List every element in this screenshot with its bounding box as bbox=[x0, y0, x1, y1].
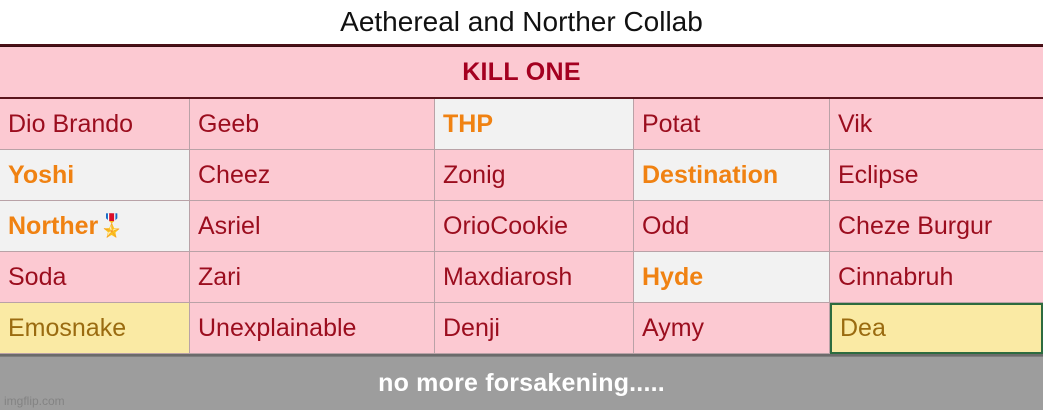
grid-cell-label: Dea bbox=[840, 314, 886, 343]
grid-cell[interactable]: Denji bbox=[435, 303, 634, 354]
banner-label: KILL ONE bbox=[462, 58, 581, 87]
grid-cell-label: Soda bbox=[8, 263, 66, 292]
grid-cell-label: Cinnabruh bbox=[838, 263, 953, 292]
grid-cell-label: Cheze Burgur bbox=[838, 212, 992, 241]
grid-cell-label: Unexplainable bbox=[198, 314, 356, 343]
grid-cell-label: OrioCookie bbox=[443, 212, 568, 241]
grid-cell-label: Aymy bbox=[642, 314, 704, 343]
grid-cell-label: Vik bbox=[838, 110, 872, 139]
grid-cell[interactable]: Dea bbox=[830, 303, 1043, 354]
grid-cell[interactable]: OrioCookie bbox=[435, 201, 634, 252]
grid-cell-label: Hyde bbox=[642, 263, 703, 292]
grid-cell[interactable]: Maxdiarosh bbox=[435, 252, 634, 303]
grid-cell[interactable]: Unexplainable bbox=[190, 303, 435, 354]
imgflip-watermark: imgflip.com bbox=[4, 394, 65, 408]
grid-cell[interactable]: Emosnake bbox=[0, 303, 190, 354]
grid-cell[interactable]: Norther🎖️ bbox=[0, 201, 190, 252]
page-title: Aethereal and Norther Collab bbox=[340, 6, 703, 38]
grid-cell-label: Yoshi bbox=[8, 161, 74, 190]
grid-cell[interactable]: THP bbox=[435, 99, 634, 150]
grid-cell[interactable]: Cheze Burgur bbox=[830, 201, 1043, 252]
grid-cell[interactable]: Destination bbox=[634, 150, 830, 201]
grid-cell-label: Geeb bbox=[198, 110, 259, 139]
grid-cell[interactable]: Eclipse bbox=[830, 150, 1043, 201]
grid-cell[interactable]: Hyde bbox=[634, 252, 830, 303]
spreadsheet-table: KILL ONE Dio BrandoGeebTHPPotatVikYoshiC… bbox=[0, 44, 1043, 356]
grid-cell[interactable]: Cheez bbox=[190, 150, 435, 201]
grid-cell-label: Odd bbox=[642, 212, 689, 241]
medal-icon: 🎖️ bbox=[98, 215, 125, 237]
name-grid: Dio BrandoGeebTHPPotatVikYoshiCheezZonig… bbox=[0, 99, 1043, 354]
grid-cell[interactable]: Zonig bbox=[435, 150, 634, 201]
grid-cell-label: Dio Brando bbox=[8, 110, 133, 139]
image-title-bar: Aethereal and Norther Collab bbox=[0, 0, 1043, 44]
footer-caption-bar: no more forsakening..... imgflip.com bbox=[0, 356, 1043, 410]
grid-cell-label: THP bbox=[443, 110, 493, 139]
grid-cell[interactable]: Cinnabruh bbox=[830, 252, 1043, 303]
footer-caption: no more forsakening..... bbox=[378, 369, 665, 398]
table-header-banner: KILL ONE bbox=[0, 46, 1043, 99]
grid-cell[interactable]: Geeb bbox=[190, 99, 435, 150]
grid-cell[interactable]: Vik bbox=[830, 99, 1043, 150]
grid-cell-label: Potat bbox=[642, 110, 700, 139]
grid-cell-label: Zari bbox=[198, 263, 241, 292]
grid-cell[interactable]: Dio Brando bbox=[0, 99, 190, 150]
grid-cell-label: Emosnake bbox=[8, 314, 126, 343]
grid-cell-label: Cheez bbox=[198, 161, 270, 190]
grid-cell-label: Maxdiarosh bbox=[443, 263, 572, 292]
grid-cell[interactable]: Zari bbox=[190, 252, 435, 303]
meme-image-root: Aethereal and Norther Collab KILL ONE Di… bbox=[0, 0, 1043, 419]
grid-cell-label: Eclipse bbox=[838, 161, 919, 190]
grid-cell[interactable]: Soda bbox=[0, 252, 190, 303]
grid-cell-label: Norther bbox=[8, 212, 98, 241]
grid-cell-label: Destination bbox=[642, 161, 778, 190]
grid-cell[interactable]: Odd bbox=[634, 201, 830, 252]
grid-cell[interactable]: Yoshi bbox=[0, 150, 190, 201]
grid-cell[interactable]: Asriel bbox=[190, 201, 435, 252]
grid-cell-label: Asriel bbox=[198, 212, 261, 241]
grid-cell[interactable]: Potat bbox=[634, 99, 830, 150]
grid-cell[interactable]: Aymy bbox=[634, 303, 830, 354]
grid-cell-label: Zonig bbox=[443, 161, 506, 190]
grid-cell-label: Denji bbox=[443, 314, 500, 343]
